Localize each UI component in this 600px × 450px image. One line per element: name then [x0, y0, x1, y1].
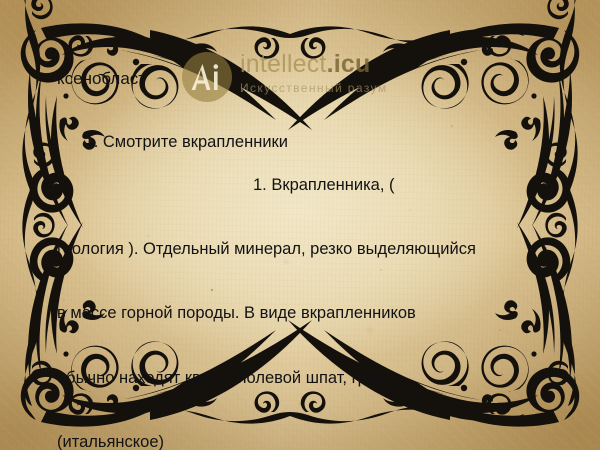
body-line-3: геология ). Отдельный минерал, резко выд… — [57, 239, 549, 260]
edge-ornament-top — [290, 26, 524, 58]
article-content: ксенобласт 1. Смотрите вкрапленники 1. В… — [57, 68, 549, 450]
headword: ксенобласт — [57, 68, 549, 89]
body-line-4: в массе горной породы. В виде вкрапленни… — [57, 303, 549, 324]
article-body: 1. Смотрите вкрапленники 1. Вкрапленника… — [57, 89, 549, 450]
edge-ornament-right — [545, 190, 577, 406]
body-line-1: 1. Смотрите вкрапленники — [85, 133, 288, 151]
edge-ornament-left-2 — [22, 0, 54, 190]
body-line-6: (итальянское) — [57, 432, 549, 450]
edge-ornament-top-2 — [56, 26, 290, 58]
edge-ornament-right-2 — [545, 0, 577, 190]
body-line-2: 1. Вкрапленника, ( — [57, 175, 549, 196]
parchment-page: intellect.icu Искусственный разум ксеноб… — [0, 0, 600, 450]
body-line-5: обычно находят кварц, полевой шпат, гран — [57, 368, 549, 389]
edge-ornament-left — [22, 190, 54, 406]
